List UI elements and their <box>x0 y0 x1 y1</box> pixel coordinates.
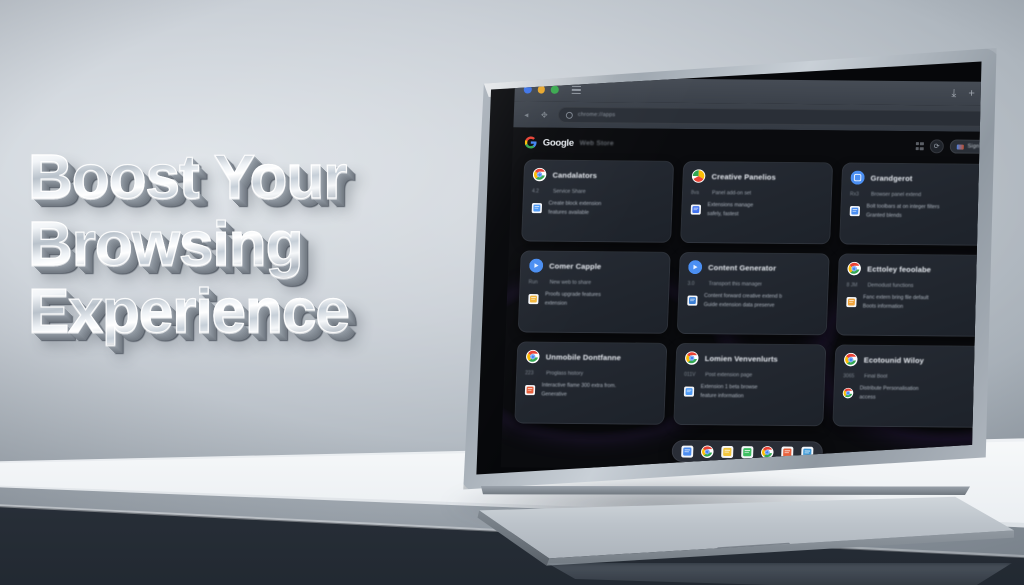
refresh-icon[interactable]: ⟳ <box>929 139 944 153</box>
card-meta: 3.0Transport this manager <box>687 281 819 288</box>
card-meta: 011VPost extension page <box>684 372 816 379</box>
headline-line-1: Boost Your Boost Your <box>28 148 458 215</box>
card-badge: 4.2 <box>532 189 546 195</box>
card-header: Grandgerot <box>850 171 983 186</box>
card-subtitle: Post extension page <box>705 372 752 378</box>
chrome-logo-icon <box>842 385 853 396</box>
new-tab-button[interactable]: + <box>968 88 975 100</box>
page-header: Google Web Store ⟳ Sign in <box>512 127 992 162</box>
card-badge: Rx3 <box>850 192 864 198</box>
card-body: Distribute Personalisationaccess <box>842 385 975 403</box>
card-description: Extensions managesafely, fastest <box>707 201 753 219</box>
address-bar[interactable]: chrome://apps ⤓ <box>558 107 992 127</box>
card-body: Fanc extern bring file defaultBoots info… <box>846 294 979 312</box>
card-subtitle: Service Share <box>553 189 586 195</box>
web-page: Google Web Store ⟳ Sign in Candalators4.… <box>501 127 992 472</box>
headline-line-3-face: Experience <box>28 282 349 343</box>
card-header: Ecotounid Wiloy <box>844 353 977 368</box>
headline-line-2: Browsing Browsing <box>28 215 458 282</box>
account-icon <box>957 144 964 149</box>
extension-card[interactable]: Creative Panelios8vaPanel add-on setExte… <box>680 161 833 244</box>
card-title: Grandgerot <box>870 173 912 182</box>
card-meta: 8vaPanel add-on set <box>691 190 823 197</box>
google-wordmark: Google <box>543 137 574 148</box>
extension-card[interactable]: Content Generator3.0Transport this manag… <box>677 252 830 335</box>
chrome-logo-icon <box>685 351 700 365</box>
page-subtitle: Web Store <box>580 139 614 146</box>
chrome-logo-icon <box>532 168 547 182</box>
card-header: Lomien Venvenlurts <box>685 351 818 366</box>
card-description: Fanc extern bring file defaultBoots info… <box>863 294 929 312</box>
card-subtitle: Proglass history <box>546 371 583 377</box>
window-minimize-button[interactable] <box>537 86 545 94</box>
extension-card[interactable]: GrandgerotRx3Browser panel extendBolt to… <box>839 162 992 245</box>
docs-dock-icon[interactable] <box>681 445 694 458</box>
card-badge: Run <box>528 280 542 286</box>
card-description: Create block extensionfeatures available <box>548 200 601 218</box>
card-description: Interactive flame 300 extra from.Generat… <box>541 382 616 400</box>
chrome-logo-icon <box>844 353 859 367</box>
card-badge: 3065 <box>843 374 857 380</box>
chrome-dock-icon[interactable] <box>701 445 714 458</box>
card-title: Creative Panelios <box>711 172 776 182</box>
card-body: Extension 1 beta browsefeature informati… <box>683 383 816 401</box>
card-subtitle: Final Boot <box>864 374 888 380</box>
card-badge: 8va <box>691 190 705 196</box>
extension-cards-grid: Candalators4.2Service ShareCreate block … <box>514 159 992 427</box>
card-meta: 4.2Service Share <box>532 189 664 196</box>
laptop-screen: ⤓ + ◂ ✥ chrome://apps ⤓ <box>468 59 992 483</box>
card-badge: 8 JM <box>846 283 860 289</box>
card-badge: 011V <box>684 372 698 378</box>
card-badge: 223 <box>525 371 539 377</box>
extension-card[interactable]: Comer CappleRunNew web to shareProofs up… <box>518 250 671 333</box>
extension-card[interactable]: Unmobile Dontfanne223Proglass historyInt… <box>514 341 667 424</box>
laptop-base-top <box>454 492 1014 572</box>
card-title: Ecotounid Wiloy <box>864 355 925 365</box>
card-body: Bolt toolbars at on integer filtersGrant… <box>849 203 982 221</box>
card-header: Ecttoley feoolabe <box>847 262 980 277</box>
card-meta: 223Proglass history <box>525 371 657 378</box>
laptop: ⤓ + ◂ ✥ chrome://apps ⤓ <box>448 40 1008 550</box>
extension-card[interactable]: Lomien Venvenlurts011VPost extension pag… <box>673 343 826 426</box>
headline-line-3: Experience Experience <box>28 282 458 349</box>
page-icon <box>566 111 573 118</box>
card-meta: Rx3Browser panel extend <box>850 192 982 199</box>
extension-card[interactable]: Ecttoley feoolabe8 JMDemodust functionsF… <box>836 253 989 336</box>
slides-app-icon <box>690 202 701 213</box>
card-body: Extensions managesafely, fastest <box>690 201 823 219</box>
card-header: Content Generator <box>688 260 821 275</box>
card-body: Proofs upgrade featuresextension <box>528 291 661 309</box>
cursor-circle-icon <box>688 260 703 274</box>
doc-app-icon <box>683 384 694 395</box>
address-bar-value: chrome://apps <box>578 112 616 118</box>
window-app-icon <box>849 203 860 214</box>
browser-square-icon <box>850 171 865 185</box>
scene: Boost Your Boost Your Browsing Browsing … <box>0 0 1024 585</box>
card-meta: RunNew web to share <box>528 280 660 287</box>
card-description: Distribute Personalisationaccess <box>859 385 918 403</box>
edge-app-icon <box>687 293 698 304</box>
poster-headline: Boost Your Boost Your Browsing Browsing … <box>28 148 458 349</box>
download-icon[interactable]: ⤓ <box>951 87 956 100</box>
extension-card[interactable]: Candalators4.2Service ShareCreate block … <box>521 159 674 242</box>
card-meta: 3065Final Boot <box>843 374 975 381</box>
chrome-logo-icon <box>526 350 541 364</box>
card-title: Lomien Venvenlurts <box>705 354 778 364</box>
card-title: Unmobile Dontfanne <box>546 352 621 362</box>
card-title: Ecttoley feoolabe <box>867 264 931 274</box>
card-subtitle: Demodust functions <box>867 283 913 289</box>
tab-list-icon[interactable] <box>571 86 580 94</box>
screen-content: ⤓ + ◂ ✥ chrome://apps ⤓ <box>468 59 992 483</box>
card-header: Unmobile Dontfanne <box>526 350 659 365</box>
headline-line-1-face: Boost Your <box>28 148 346 209</box>
card-body: Interactive flame 300 extra from.Generat… <box>524 382 657 400</box>
card-title: Content Generator <box>708 263 776 273</box>
chrome-dock-icon-2[interactable] <box>761 445 774 458</box>
laptop-base <box>454 492 1014 572</box>
card-meta: 8 JMDemodust functions <box>846 283 978 290</box>
card-description: Extension 1 beta browsefeature informati… <box>700 383 757 401</box>
card-subtitle: Panel add-on set <box>712 190 751 196</box>
headline-line-2-face: Browsing <box>28 215 302 276</box>
card-description: Content forward creative extend bGuide e… <box>704 292 783 310</box>
extension-card[interactable]: Ecotounid Wiloy3065Final BootDistribute … <box>832 344 985 427</box>
back-arrow-icon[interactable]: ◂ <box>522 110 531 119</box>
people-app-icon <box>846 294 857 305</box>
google-logo-icon <box>525 136 537 148</box>
card-title: Comer Capple <box>549 261 601 270</box>
card-title: Candalators <box>552 170 597 179</box>
card-body: Create block extensionfeatures available <box>531 200 664 218</box>
image-app-icon <box>531 200 542 211</box>
card-header: Candalators <box>532 168 665 183</box>
card-description: Proofs upgrade featuresextension <box>545 291 601 309</box>
card-subtitle: Browser panel extend <box>871 192 921 198</box>
chrome-logo-icon <box>847 262 862 276</box>
header-spacer <box>620 143 910 146</box>
card-subtitle: New web to share <box>549 280 591 286</box>
grid-view-icon[interactable] <box>915 142 923 150</box>
firefox-app-icon <box>524 382 535 393</box>
window-maximize-button[interactable] <box>551 86 559 94</box>
docs-app-icon <box>528 291 539 302</box>
chrome-circle-icon <box>529 259 544 273</box>
card-description: Bolt toolbars at on integer filtersGrant… <box>866 203 940 221</box>
card-subtitle: Transport this manager <box>708 281 762 288</box>
keep-dock-icon[interactable] <box>721 445 734 458</box>
drive-logo-icon <box>691 169 706 183</box>
card-body: Content forward creative extend bGuide e… <box>687 292 820 310</box>
card-header: Creative Panelios <box>691 169 824 184</box>
gmail-dock-icon[interactable] <box>741 445 754 458</box>
titlebar-spacer <box>586 90 945 93</box>
card-badge: 3.0 <box>687 281 701 287</box>
forward-arrow-icon[interactable]: ✥ <box>540 110 549 119</box>
card-header: Comer Capple <box>529 259 662 274</box>
